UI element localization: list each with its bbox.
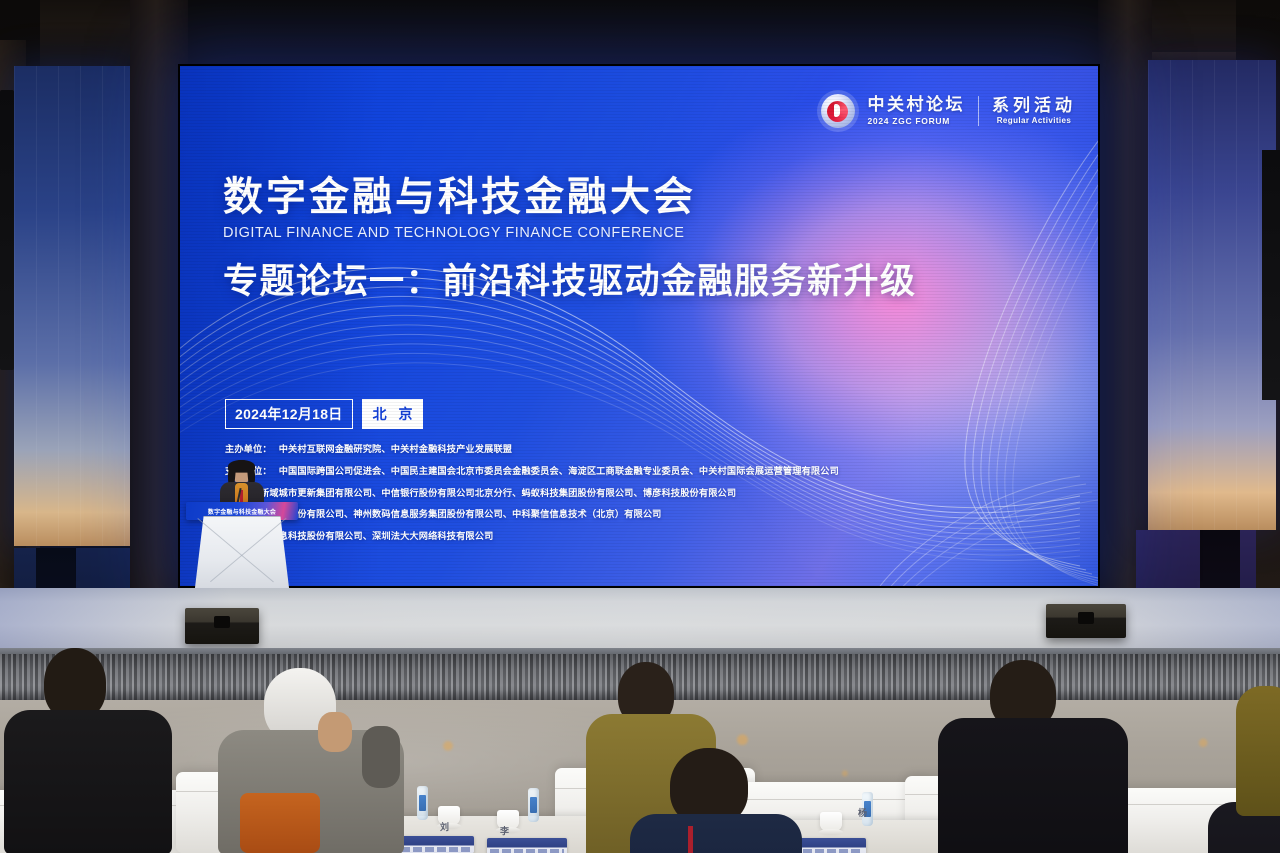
water-bottle	[417, 786, 428, 820]
led-screen: 中关村论坛 2024 ZGC FORUM 系列活动 Regular Activi…	[180, 66, 1098, 586]
audience-arm	[362, 726, 400, 788]
namecard-surname: 李	[500, 824, 509, 837]
zgc-forum-logo-lockup: 中关村论坛 2024 ZGC FORUM 系列活动 Regular Activi…	[821, 94, 1077, 128]
namecard-surname: 刘	[440, 820, 449, 833]
lectern-banner-text: 数字金融与科技金融大会	[208, 507, 276, 516]
logo-text-block: 中关村论坛 2024 ZGC FORUM	[868, 96, 966, 126]
organizer-label: 主办单位：	[225, 444, 272, 454]
delegate-namecard	[487, 838, 567, 853]
delegate-namecard	[398, 836, 474, 853]
organizer-line: 上海合合信息科技股份有限公司、深圳法大大网络科技有限公司	[225, 532, 925, 541]
organizer-value: 中关村互联网金融研究院、中关村金融科技产业发展联盟	[279, 444, 512, 454]
stage-monitor-left	[185, 608, 259, 644]
back-wall	[178, 0, 1100, 70]
organizer-line: 主办单位：中关村互联网金融研究院、中关村金融科技产业发展联盟	[225, 445, 925, 454]
forum-session-subtitle: 专题论坛一：前沿科技驱动金融服务新升级	[223, 263, 917, 301]
audience-scarf	[240, 793, 320, 853]
right-line-array-speaker	[1262, 150, 1280, 400]
logo-english-name: 2024 ZGC FORUM	[868, 116, 966, 126]
tea-cup	[820, 812, 842, 831]
organizer-value: 北京海新域城市更新集团有限公司、中信银行股份有限公司北京分行、蚂蚁科技集团股份有…	[232, 488, 736, 498]
date-location-chips: 2024年12月18日 北 京	[225, 399, 423, 429]
organizer-line: 马上消费金融股份有限公司、神州数码信息服务集团股份有限公司、中科聚信信息技术（北…	[225, 510, 925, 519]
lectern-area: 数字金融与科技金融大会	[186, 466, 298, 596]
conference-photo-scene: 中关村论坛 2024 ZGC FORUM 系列活动 Regular Activi…	[0, 0, 1280, 853]
left-line-array-speaker	[0, 90, 14, 370]
logo-series-chinese: 系列活动	[992, 97, 1076, 115]
right-illuminated-wall-panel	[1148, 60, 1276, 530]
logo-divider	[978, 96, 979, 126]
audience-lanyard	[688, 826, 693, 853]
namecard-surname: 杨	[858, 806, 867, 819]
event-date-chip: 2024年12月18日	[225, 399, 353, 429]
logo-series-block: 系列活动 Regular Activities	[992, 97, 1076, 126]
logo-chinese-name: 中关村论坛	[868, 96, 966, 114]
water-bottle	[528, 788, 539, 822]
lectern-body	[194, 516, 290, 596]
conference-title-en: DIGITAL FINANCE AND TECHNOLOGY FINANCE C…	[223, 225, 917, 241]
speaker-presenter	[214, 460, 270, 506]
organizer-value: 中国国际跨国公司促进会、中国民主建国会北京市委员会金融委员会、海淀区工商联金融专…	[279, 466, 839, 476]
stage-monitor-right	[1046, 604, 1126, 638]
event-city-chip: 北 京	[362, 399, 424, 429]
audience-hand	[318, 712, 352, 752]
left-illuminated-wall-panel	[14, 66, 130, 546]
organizer-line: 支持单位：中国国际跨国公司促进会、中国民主建国会北京市委员会金融委员会、海淀区工…	[225, 467, 925, 476]
screen-headline-block: 数字金融与科技金融大会 DIGITAL FINANCE AND TECHNOLO…	[223, 176, 917, 301]
zgc-emblem-icon	[821, 94, 855, 128]
conference-title-cn: 数字金融与科技金融大会	[223, 176, 917, 218]
organizer-list: 主办单位：中关村互联网金融研究院、中关村金融科技产业发展联盟 支持单位：中国国际…	[225, 445, 925, 554]
organizer-line: 北京海新域城市更新集团有限公司、中信银行股份有限公司北京分行、蚂蚁科技集团股份有…	[225, 489, 925, 498]
logo-series-english: Regular Activities	[992, 116, 1076, 125]
